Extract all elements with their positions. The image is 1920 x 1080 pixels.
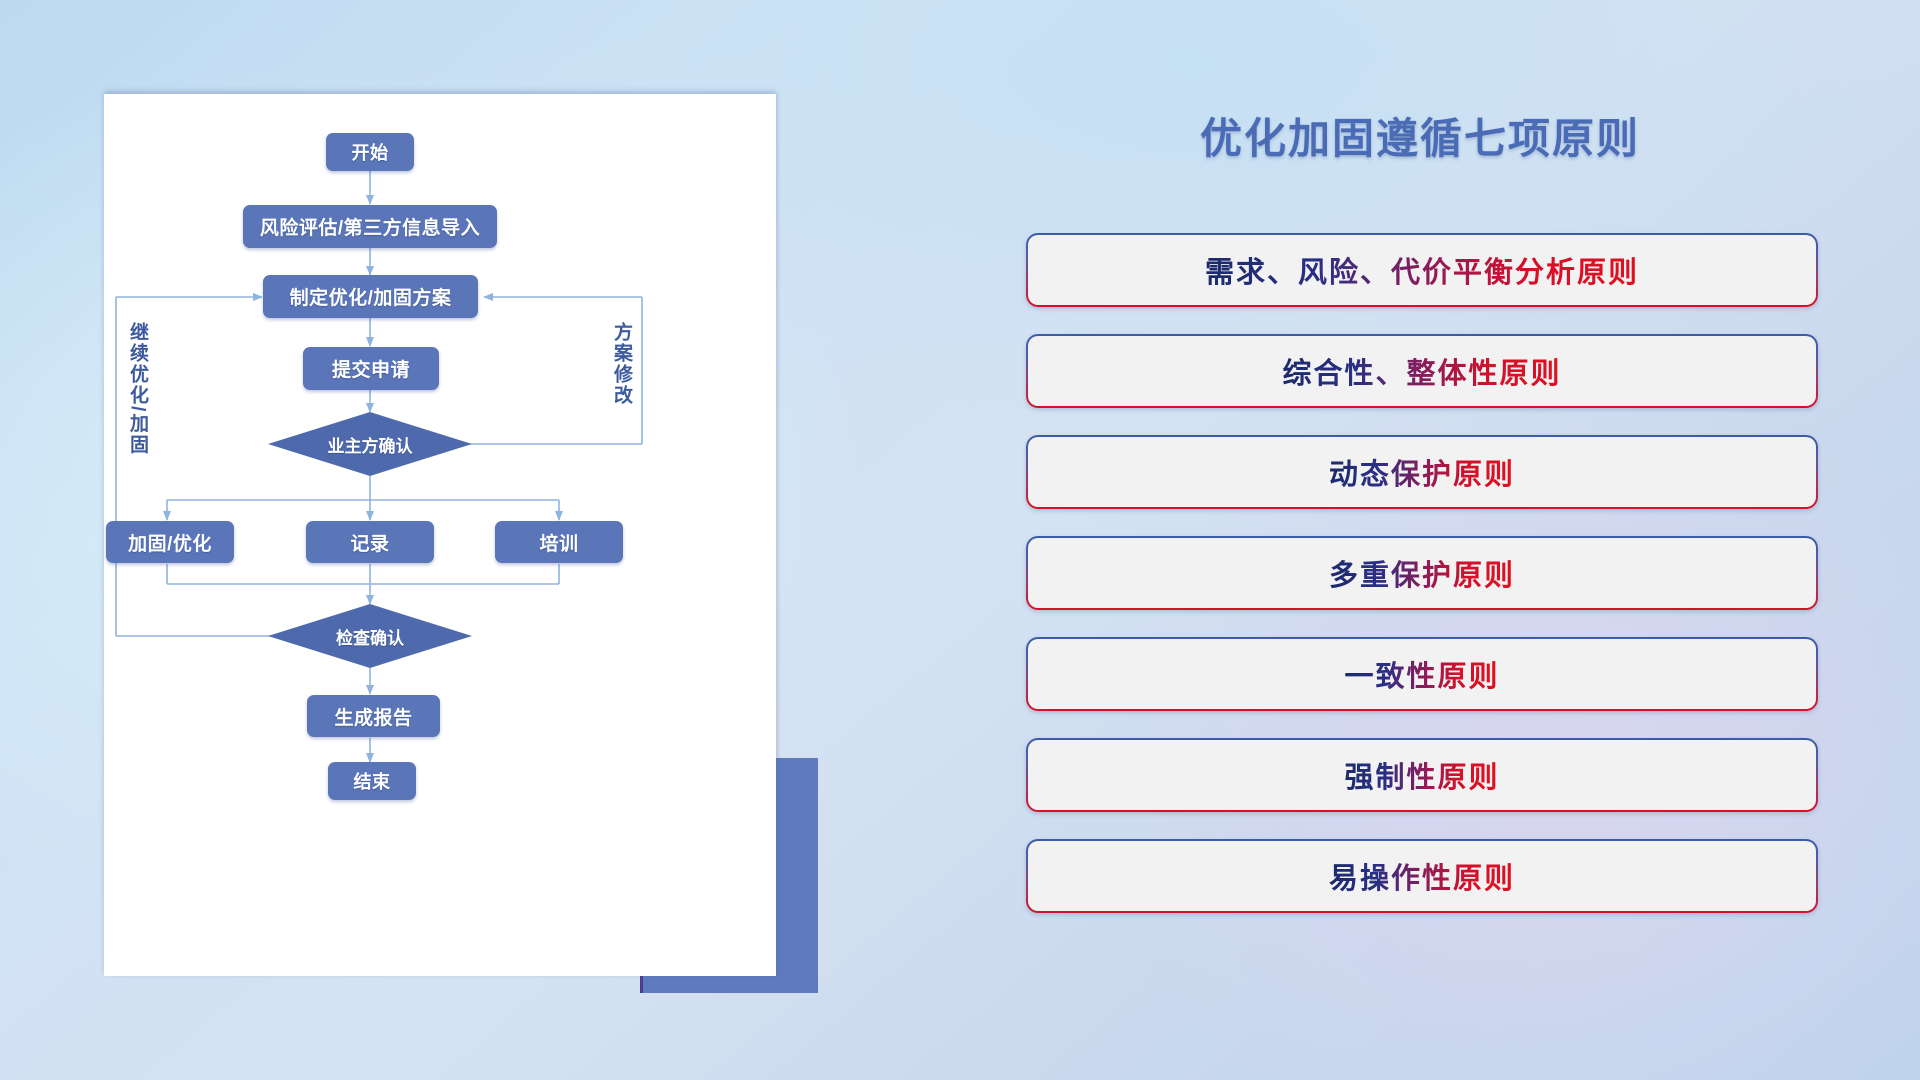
flow-node-start-label: 开始 xyxy=(352,139,389,165)
principle-label: 综合性、整体性原则 xyxy=(1282,350,1561,392)
principle-card[interactable]: 强制性原则 xyxy=(1026,738,1818,812)
principle-card[interactable]: 综合性、整体性原则 xyxy=(1026,334,1818,408)
flow-node-plan-label: 制定优化/加固方案 xyxy=(290,283,452,310)
flow-node-end-label: 结束 xyxy=(354,768,391,794)
flow-node-record[interactable]: 记录 xyxy=(306,521,434,563)
principle-card[interactable]: 需求、风险、代价平衡分析原则 xyxy=(1026,233,1818,307)
flow-node-end[interactable]: 结束 xyxy=(328,762,416,800)
flowchart-panel: 开始 风险评估/第三方信息导入 制定优化/加固方案 提交申请 业主方确认 加固/… xyxy=(104,94,776,976)
flow-node-report-label: 生成报告 xyxy=(334,703,412,730)
flow-node-report[interactable]: 生成报告 xyxy=(307,695,440,737)
principle-card-inner: 强制性原则 xyxy=(1028,740,1816,810)
principle-card[interactable]: 动态保护原则 xyxy=(1026,435,1818,509)
flow-node-risk-assessment[interactable]: 风险评估/第三方信息导入 xyxy=(243,205,497,248)
principle-label: 需求、风险、代价平衡分析原则 xyxy=(1205,249,1639,291)
principle-card-inner: 易操作性原则 xyxy=(1028,841,1816,911)
flow-node-plan[interactable]: 制定优化/加固方案 xyxy=(263,275,478,318)
flow-decision-owner-confirm-label: 业主方确认 xyxy=(328,432,413,457)
principle-card-inner: 一致性原则 xyxy=(1028,639,1816,709)
page-title: 优化加固遵循七项原则 xyxy=(1020,105,1820,166)
principle-label: 强制性原则 xyxy=(1344,754,1499,796)
flow-node-training[interactable]: 培训 xyxy=(495,521,623,563)
flow-node-reinforce[interactable]: 加固/优化 xyxy=(106,521,234,563)
principle-card-inner: 综合性、整体性原则 xyxy=(1028,336,1816,406)
flow-node-reinforce-label: 加固/优化 xyxy=(128,529,212,556)
flow-node-training-label: 培训 xyxy=(539,529,578,556)
principle-card-inner: 多重保护原则 xyxy=(1028,538,1816,608)
principle-card-inner: 需求、风险、代价平衡分析原则 xyxy=(1028,235,1816,305)
principle-card-inner: 动态保护原则 xyxy=(1028,437,1816,507)
principle-label: 动态保护原则 xyxy=(1329,451,1515,493)
edge-label-right-loop: 方案修改 xyxy=(608,322,635,406)
edge-label-left-loop: 继续优化/加固 xyxy=(124,322,151,455)
flow-node-submit-label: 提交申请 xyxy=(332,355,410,382)
principles-list: 需求、风险、代价平衡分析原则 综合性、整体性原则 动态保护原则 多重保护原则 一… xyxy=(1026,233,1818,940)
principle-label: 多重保护原则 xyxy=(1329,552,1515,594)
flow-decision-owner-confirm[interactable]: 业主方确认 xyxy=(268,412,472,476)
slide-canvas: 开始 风险评估/第三方信息导入 制定优化/加固方案 提交申请 业主方确认 加固/… xyxy=(0,0,1920,1080)
flow-node-start[interactable]: 开始 xyxy=(326,133,414,171)
flow-node-risk-assessment-label: 风险评估/第三方信息导入 xyxy=(260,213,480,240)
principle-card[interactable]: 多重保护原则 xyxy=(1026,536,1818,610)
flow-node-submit[interactable]: 提交申请 xyxy=(303,347,439,390)
principle-label: 易操作性原则 xyxy=(1329,855,1515,897)
flow-decision-inspection[interactable]: 检查确认 xyxy=(268,604,472,668)
principle-card[interactable]: 一致性原则 xyxy=(1026,637,1818,711)
flow-decision-inspection-label: 检查确认 xyxy=(336,624,404,649)
principle-label: 一致性原则 xyxy=(1344,653,1499,695)
flow-node-record-label: 记录 xyxy=(350,529,389,556)
principle-card[interactable]: 易操作性原则 xyxy=(1026,839,1818,913)
